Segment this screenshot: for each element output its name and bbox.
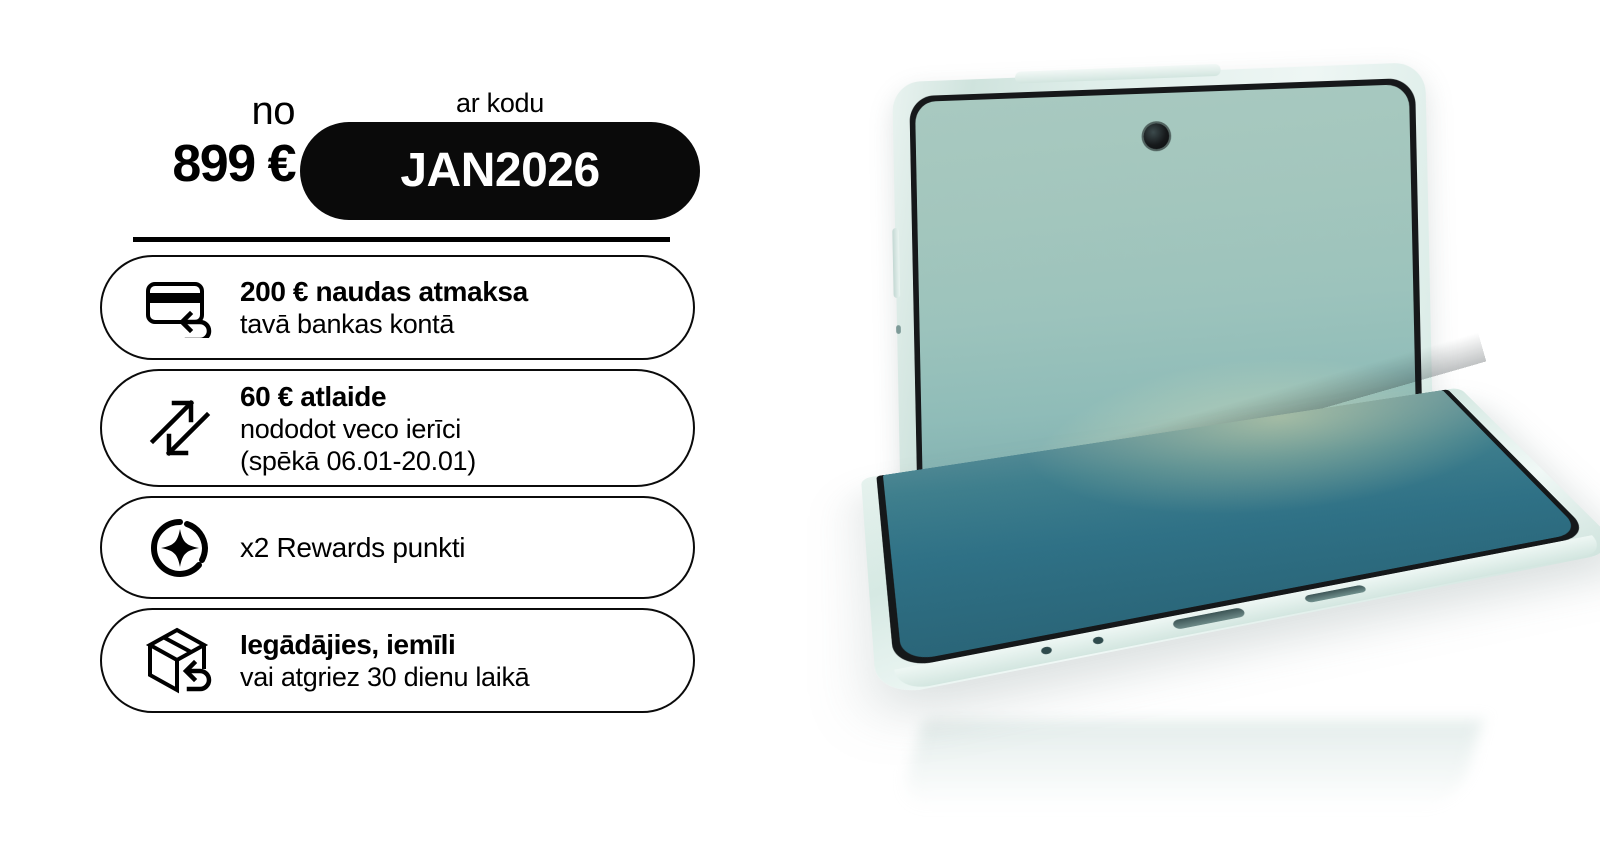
benefit-subtitle: nododot veco ierīci — [240, 413, 693, 445]
front-camera-icon — [1143, 123, 1169, 150]
box-return-icon — [128, 625, 232, 697]
coupon-block: ar kodu JAN2026 — [300, 88, 700, 220]
product-image-area — [760, 0, 1600, 846]
trade-in-arrows-icon — [128, 395, 232, 461]
offer-divider — [133, 237, 670, 242]
benefit-card-trade-in[interactable]: 60 € atlaide nododot veco ierīci (spēkā … — [100, 369, 695, 487]
coupon-code-pill[interactable]: JAN2026 — [300, 122, 700, 220]
coupon-caption-label: ar kodu — [300, 88, 700, 118]
benefit-card-rewards[interactable]: x2 Rewards punkti — [100, 496, 695, 599]
microphone-hole — [1092, 636, 1104, 645]
microphone-hole — [1040, 646, 1052, 655]
benefit-text-rewards: x2 Rewards punkti — [232, 532, 693, 564]
price-amount-label: 899 € — [110, 136, 295, 192]
phone-reflection — [897, 720, 1483, 810]
price-prefix-label: no — [110, 88, 295, 134]
offer-panel: no 899 € ar kodu JAN2026 — [0, 0, 760, 846]
price-coupon-row: no 899 € ar kodu JAN2026 — [100, 88, 720, 223]
benefit-title: Iegādājies, iemīli — [240, 628, 693, 661]
benefit-title: 200 € naudas atmaksa — [240, 275, 693, 308]
phone-top-edge-detail — [1015, 64, 1221, 84]
benefit-subtitle: vai atgriez 30 dienu laikā — [240, 661, 693, 693]
foldable-phone — [800, 30, 1560, 820]
benefit-title: x2 Rewards punkti — [240, 532, 693, 564]
phone-side-port — [896, 325, 901, 334]
promo-banner: no 899 € ar kodu JAN2026 — [0, 0, 1600, 846]
benefit-subtitle: tavā bankas kontā — [240, 308, 693, 340]
benefit-validity-note: (spēkā 06.01-20.01) — [240, 445, 693, 477]
price-block: no 899 € — [110, 88, 295, 192]
phone-side-button — [892, 228, 900, 298]
benefit-text-cashback: 200 € naudas atmaksa tavā bankas kontā — [232, 275, 693, 340]
benefit-text-returns: Iegādājies, iemīli vai atgriez 30 dienu … — [232, 628, 693, 693]
benefit-text-trade-in: 60 € atlaide nododot veco ierīci (spēkā … — [232, 380, 693, 477]
benefit-card-returns[interactable]: Iegādājies, iemīli vai atgriez 30 dienu … — [100, 608, 695, 713]
coupon-code-label: JAN2026 — [400, 146, 599, 196]
credit-card-return-icon — [128, 278, 232, 338]
benefit-list: 200 € naudas atmaksa tavā bankas kontā 6… — [100, 255, 695, 722]
benefit-title: 60 € atlaide — [240, 380, 693, 413]
benefit-card-cashback[interactable]: 200 € naudas atmaksa tavā bankas kontā — [100, 255, 695, 360]
rewards-star-icon — [128, 515, 232, 581]
